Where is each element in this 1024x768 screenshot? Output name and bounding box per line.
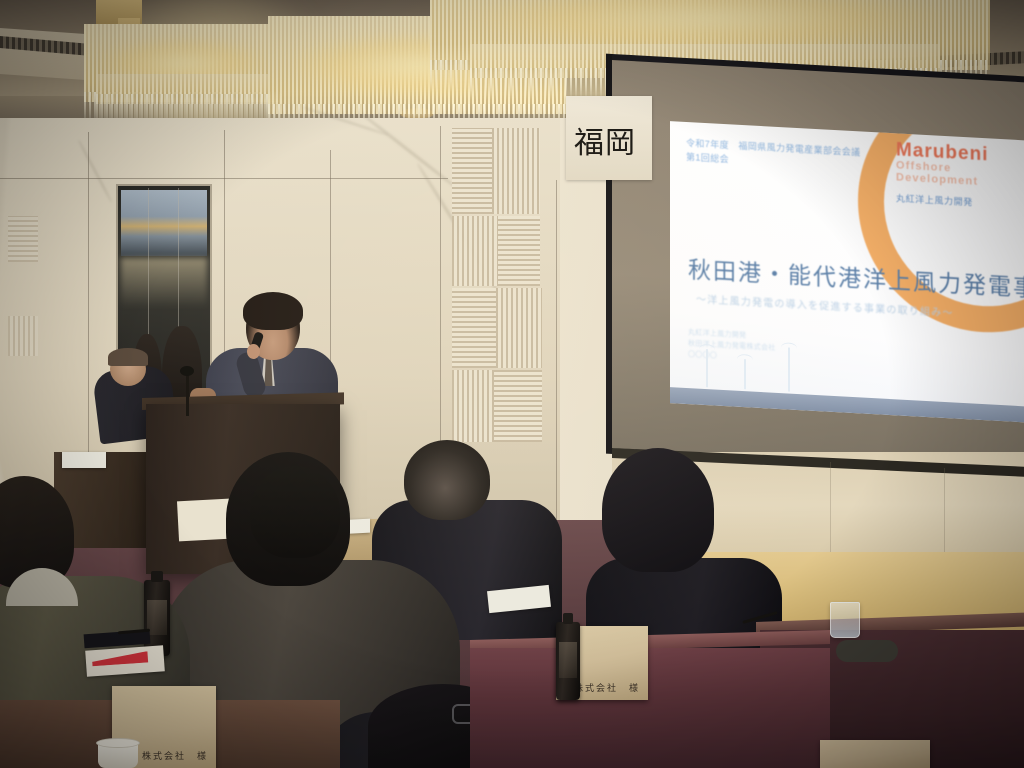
speaker-hand [247,344,260,359]
wall-texture-panel [492,128,540,214]
attendee-head [602,448,714,572]
bottle-cap [563,613,574,624]
chandelier-left-lower [96,74,268,104]
name-card-text: 株式会社 様 [574,681,640,694]
wall-texture-panel [494,370,542,442]
water-bottle [144,580,170,656]
wind-turbine-graphic [706,349,708,387]
wall-panel-seam [556,180,557,550]
stage-wall-seam [830,462,831,554]
wall-texture-panel [8,316,38,356]
wall-texture-panel [452,370,494,442]
paper-cup [98,742,138,768]
center-table [470,648,830,768]
water-bottle [556,622,580,700]
name-card [820,740,930,768]
drinking-glass [830,602,860,638]
wall-texture-panel [452,288,496,368]
niche-artwork [121,190,207,256]
niche-glare [121,258,207,308]
wall-texture-panel [498,216,540,286]
microphone-stand [186,372,189,416]
document-red-mark [92,651,149,666]
stage-wall-seam [944,468,945,556]
wall-texture-panel [452,216,498,286]
podium-documents [62,452,106,468]
projection-screen: 令和7年度 福岡県風力発電産業部会会議 第1回総会 Marubeni Offsh… [612,60,1024,470]
assistant-hair [108,348,148,366]
bottle-label [559,642,577,678]
presentation-slide: 令和7年度 福岡県風力発電産業部会会議 第1回総会 Marubeni Offsh… [670,121,1024,422]
banner-text: 福岡 [574,118,636,162]
microphone-head-icon [180,366,194,376]
name-card-text: 株式会社 様 [142,749,208,762]
venue-banner: 福岡 [566,96,652,180]
wind-turbine-graphic [788,348,790,392]
podium-script-paper [177,499,231,542]
wind-turbine-graphic [744,359,746,389]
document-with-red-graphic [85,645,165,676]
marubeni-logo: Marubeni Offshore Development 丸紅洋上風力開発 [896,141,1016,210]
wall-texture-panel [452,128,492,214]
cup-rim [96,738,140,748]
wall-texture-panel [8,216,38,262]
bottle-label [147,600,167,635]
bottle-cap [151,571,162,582]
wall-texture-panel [496,288,542,368]
speaker-hair [243,292,303,330]
attendee-head [250,466,340,558]
conference-photo: 令和7年度 福岡県風力発電産業部会会議 第1回総会 Marubeni Offsh… [0,0,1024,768]
dark-object-on-table [836,640,898,662]
attendee-head [404,440,490,520]
